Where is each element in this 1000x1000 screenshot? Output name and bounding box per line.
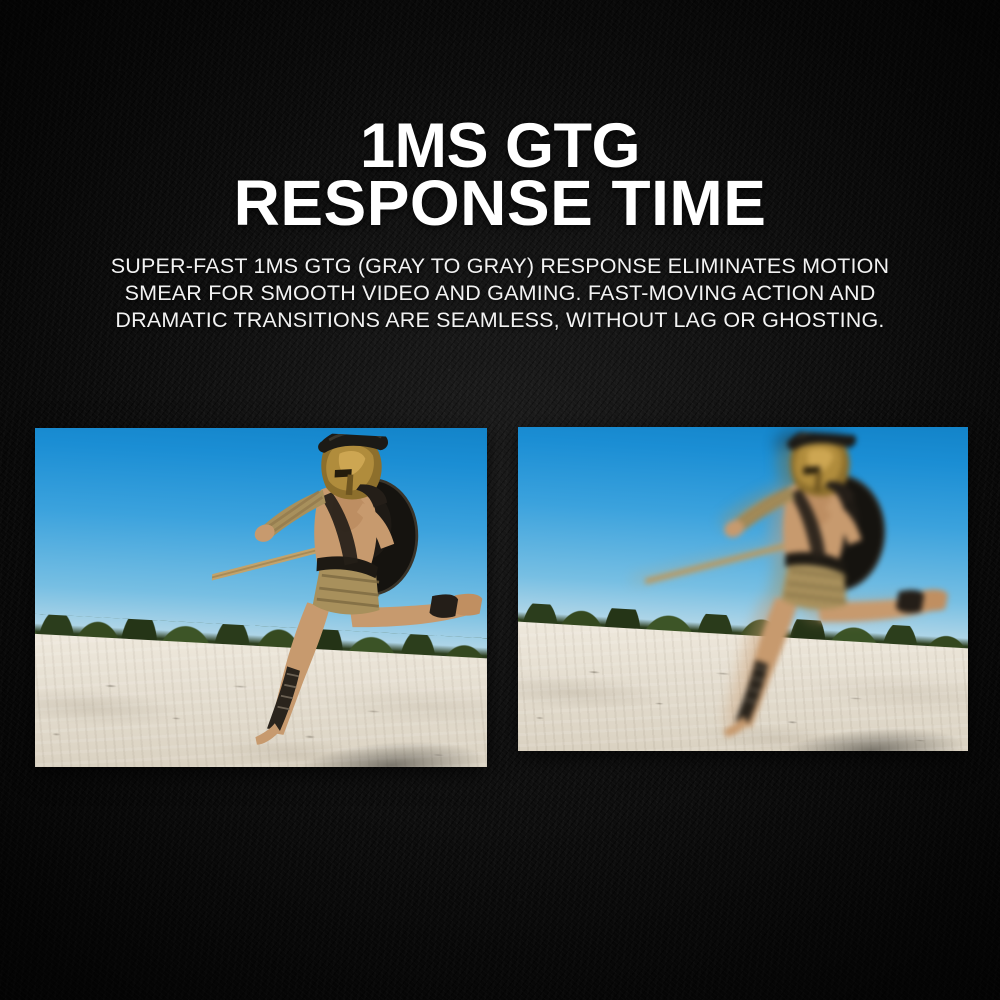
headline-line-2: RESPONSE TIME [0, 175, 1000, 232]
warrior-figure-sharp [202, 428, 487, 767]
poster-canvas: 1MS GTG RESPONSE TIME SUPER-FAST 1MS GTG… [0, 0, 1000, 1000]
comparison-panel-sharp[interactable] [35, 428, 487, 767]
body-description: SUPER-FAST 1MS GTG (GRAY TO GRAY) RESPON… [78, 253, 922, 334]
photo-blurred [518, 427, 968, 751]
scene-blurred [518, 427, 968, 751]
page-title: 1MS GTG RESPONSE TIME [0, 118, 1000, 232]
photo-sharp [35, 428, 487, 767]
comparison-panel-blurred[interactable] [518, 427, 968, 751]
scene-sharp [35, 428, 487, 767]
warrior-figure-blurred [634, 427, 968, 751]
